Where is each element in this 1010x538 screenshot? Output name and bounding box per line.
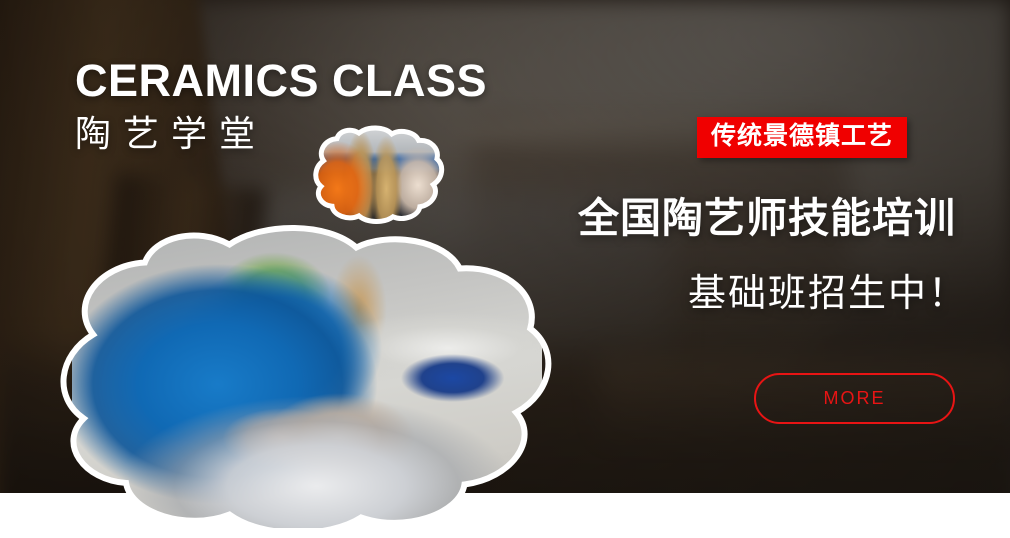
ceramics-class-banner: CERAMICS CLASS 陶艺学堂 传统景德镇工艺 全国陶艺师技能培训 基础… xyxy=(0,0,1010,538)
page-title-english: CERAMICS CLASS xyxy=(75,58,487,103)
more-button-label: MORE xyxy=(824,388,886,409)
headline-text: 全国陶艺师技能培训 xyxy=(578,198,956,239)
badge-label: 传统景德镇工艺 xyxy=(711,124,893,149)
status-badge: 传统景德镇工艺 xyxy=(697,117,907,158)
tools-cloud-outline xyxy=(318,128,440,220)
more-button[interactable]: MORE xyxy=(754,373,955,424)
student-cloud-outline xyxy=(72,228,542,528)
subheadline-text: 基础班招生中！ xyxy=(688,275,968,313)
